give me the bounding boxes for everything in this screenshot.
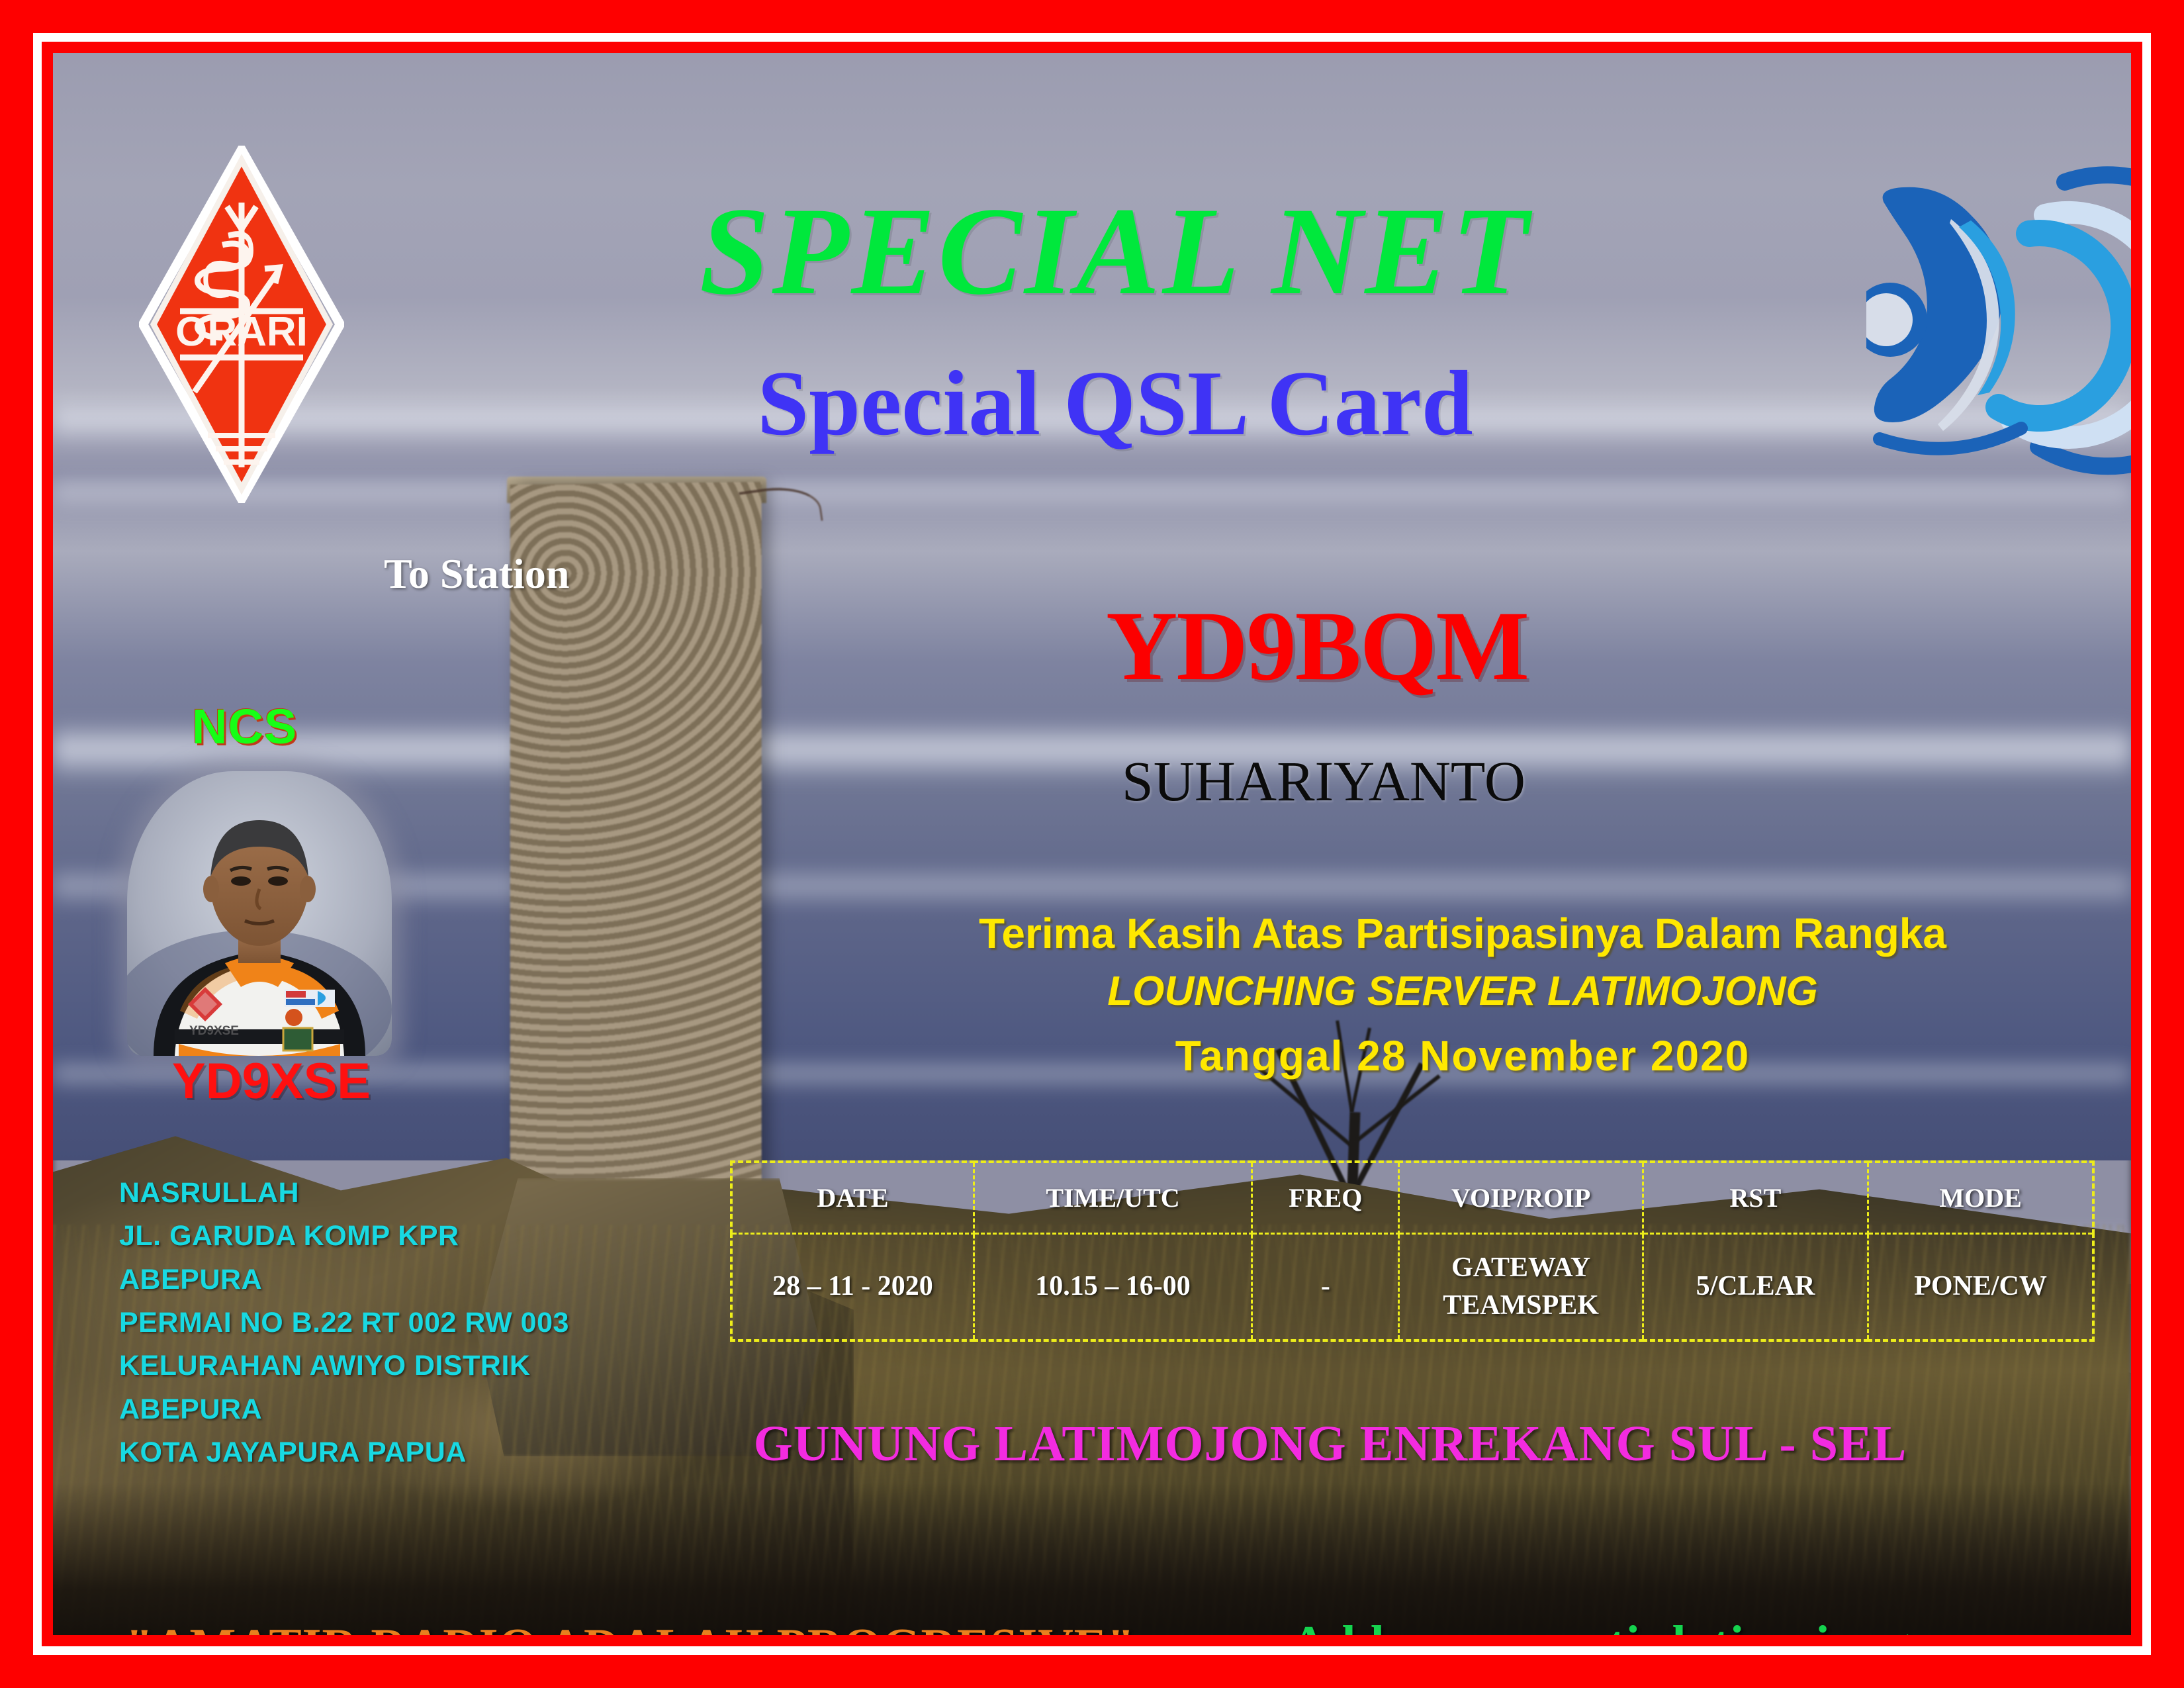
address-line: NASRULLAH (119, 1172, 569, 1215)
ncs-callsign: YD9XSE (146, 1053, 397, 1110)
address-line: ABEPURA (119, 1388, 569, 1431)
card-white-frame: ORARI (33, 33, 2151, 1655)
table-header-row: DATE TIME/UTC FREQ VOIP/ROIP RST MODE (731, 1162, 2093, 1233)
thanks-line-3: Tanggal 28 November 2020 (781, 1023, 2131, 1089)
voip-headset-logo (1866, 156, 2131, 480)
thanks-line-2: LOUNCHING SERVER LATIMOJONG (781, 960, 2131, 1023)
thanks-message-block: Terima Kasih Atas Partisipasinya Dalam R… (781, 907, 2131, 1089)
page-subtitle-qsl-card: Special QSL Card (503, 357, 1727, 450)
address-line: JL. GARUDA KOMP KPR (119, 1215, 569, 1258)
table-header-mode: MODE (1868, 1162, 2093, 1233)
station-callsign: YD9BQM (1019, 589, 1615, 703)
background-photo: ORARI (53, 53, 2131, 1635)
address-line: ABEPURA (119, 1258, 569, 1301)
orari-logo-text: ORARI (175, 309, 308, 355)
cell-voip-line-2: TEAMSPEK (1443, 1290, 1599, 1321)
ncs-label: NCS (192, 698, 297, 755)
cell-date: 28 – 11 - 2020 (731, 1233, 974, 1340)
table-header-freq: FREQ (1252, 1162, 1399, 1233)
table-header-voip: VOIP/ROIP (1399, 1162, 1643, 1233)
thanks-line-1: Terima Kasih Atas Partisipasinya Dalam R… (781, 907, 2131, 960)
orari-logo: ORARI (139, 146, 344, 503)
cell-freq: - (1252, 1233, 1399, 1340)
table-header-rst: RST (1643, 1162, 1868, 1233)
cell-mode: PONE/CW (1868, 1233, 2093, 1340)
table-header-date: DATE (731, 1162, 974, 1233)
page-title-special-net: SPECIAL NET (503, 189, 1727, 314)
qso-log-table: DATE TIME/UTC FREQ VOIP/ROIP RST MODE 28… (730, 1160, 2095, 1342)
address-line: KELURAHAN AWIYO DISTRIK (119, 1344, 569, 1387)
cell-rst: 5/CLEAR (1643, 1233, 1868, 1340)
cell-voip-line-1: GATEWAY (1451, 1252, 1590, 1283)
uniform-callsign-badge: YD9XSE (189, 1024, 239, 1038)
qsl-card: ORARI (0, 0, 2184, 1688)
return-address-block: NASRULLAH JL. GARUDA KOMP KPR ABEPURA PE… (119, 1172, 569, 1475)
address-line: KOTA JAYAPURA PAPUA (119, 1431, 569, 1474)
cell-time: 10.15 – 16-00 (974, 1233, 1251, 1340)
footer-web-address: Address : amatir.latimojong.com (1291, 1615, 2015, 1635)
table-row: 28 – 11 - 2020 10.15 – 16-00 - GATEWAY T… (731, 1233, 2093, 1340)
ncs-operator-photo: YD9XSE (127, 771, 392, 1056)
footer-slogan: "AMATIR RADIO ADALAH PROGRESIVE" (126, 1618, 1135, 1635)
address-line: PERMAI NO B.22 RT 002 RW 003 (119, 1301, 569, 1344)
table-header-time: TIME/UTC (974, 1162, 1251, 1233)
operator-name: SUHARIYANTO (993, 748, 1655, 814)
to-station-label: To Station (384, 549, 569, 598)
location-label: GUNUNG LATIMOJONG ENREKANG SUL - SEL (702, 1415, 1959, 1473)
cell-voip: GATEWAY TEAMSPEK (1399, 1233, 1643, 1340)
card-inner-red-frame: ORARI (42, 42, 2142, 1646)
